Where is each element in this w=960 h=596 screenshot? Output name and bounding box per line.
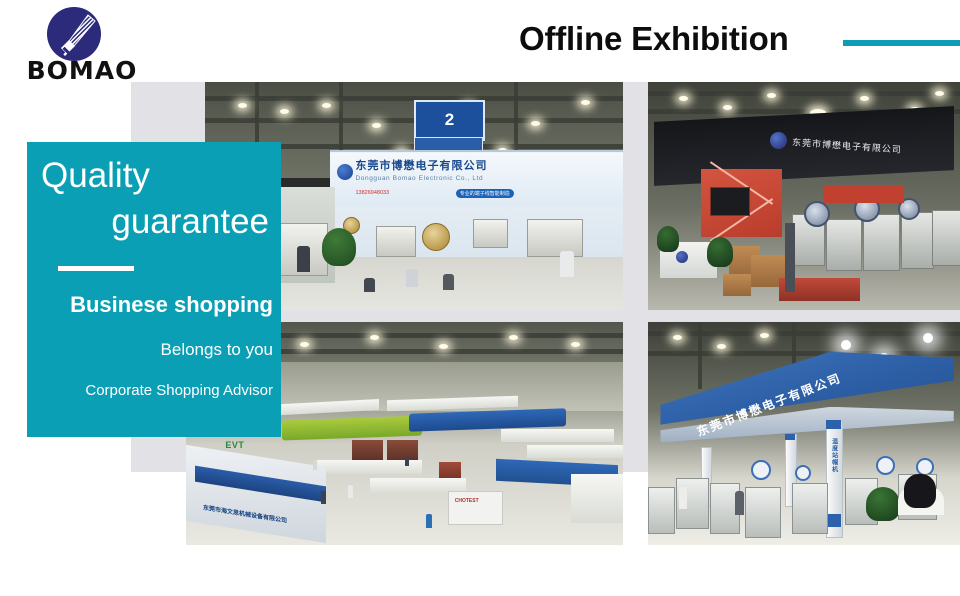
slide-root: BOMAO Offline Exhibition 2 bbox=[0, 0, 960, 596]
banner-logo-icon bbox=[337, 164, 353, 180]
chotest-booth bbox=[448, 491, 502, 524]
bomao-logo-icon bbox=[46, 6, 102, 62]
callout-line-5: Corporate Shopping Advisor bbox=[27, 383, 273, 398]
callout-line-3: Businese shopping bbox=[27, 294, 273, 316]
quality-callout-panel: Quality guarantee Businese shopping Belo… bbox=[27, 142, 281, 437]
banner-company-en: Dongguan Bomao Electronic Co., Ltd bbox=[355, 175, 483, 182]
banner-badge: 专业的端子线智能制造 bbox=[456, 189, 514, 198]
title-rule bbox=[843, 40, 960, 46]
page-title: Offline Exhibition bbox=[519, 20, 789, 58]
wall-display bbox=[710, 187, 749, 216]
callout-line-4: Belongs to you bbox=[27, 341, 273, 358]
sign-chotest: CHOTEST bbox=[455, 498, 479, 504]
photo-bottom-right: 东莞市博懋电子有限公司 温度站帽机 bbox=[648, 322, 960, 545]
booth-number-text: 2 bbox=[445, 110, 454, 130]
canopy-logo-icon bbox=[770, 132, 787, 149]
brand-logo: BOMAO bbox=[22, 6, 142, 86]
sign-evt: EVT bbox=[225, 440, 244, 450]
photo-top-right: 东莞市博懋电子有限公司 bbox=[648, 82, 960, 310]
callout-line-2: guarantee bbox=[27, 204, 269, 239]
banner-company-cn: 东莞市博懋电子有限公司 bbox=[355, 157, 487, 173]
banner-phone: 13826948033 bbox=[355, 190, 389, 196]
callout-divider bbox=[58, 266, 134, 271]
brand-wordmark: BOMAO bbox=[22, 58, 142, 83]
column-label-cn: 温度站帽机 bbox=[830, 438, 839, 473]
callout-line-1: Quality bbox=[41, 158, 150, 193]
booth-number-sign: 2 bbox=[414, 100, 485, 140]
